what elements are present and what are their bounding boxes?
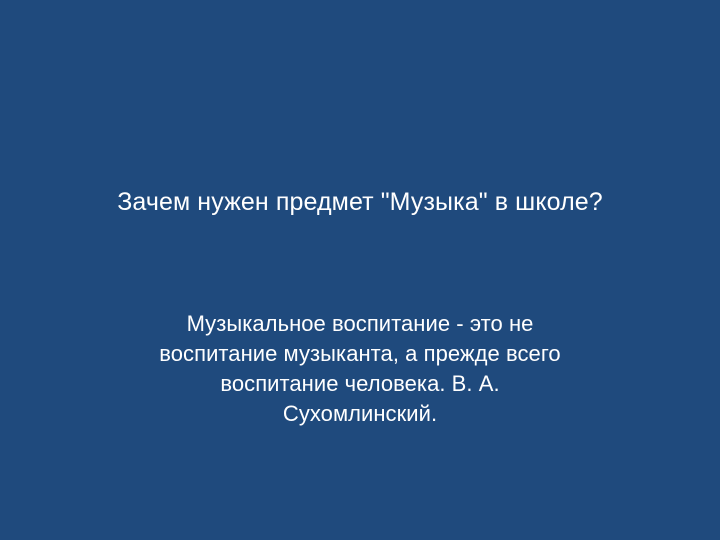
page-title: Зачем нужен предмет "Музыка" в школе? xyxy=(0,186,720,218)
quote-line: воспитание человека. В. А. xyxy=(100,369,620,399)
slide-body-block: Музыкальное воспитание - это не воспитан… xyxy=(100,309,620,429)
quote-line: воспитание музыканта, а прежде всего xyxy=(100,339,620,369)
presentation-slide: Зачем нужен предмет "Музыка" в школе? Му… xyxy=(0,0,720,540)
quote-line: Сухомлинский. xyxy=(100,399,620,429)
quote-line: Музыкальное воспитание - это не xyxy=(100,309,620,339)
slide-title-block: Зачем нужен предмет "Музыка" в школе? xyxy=(0,186,720,218)
